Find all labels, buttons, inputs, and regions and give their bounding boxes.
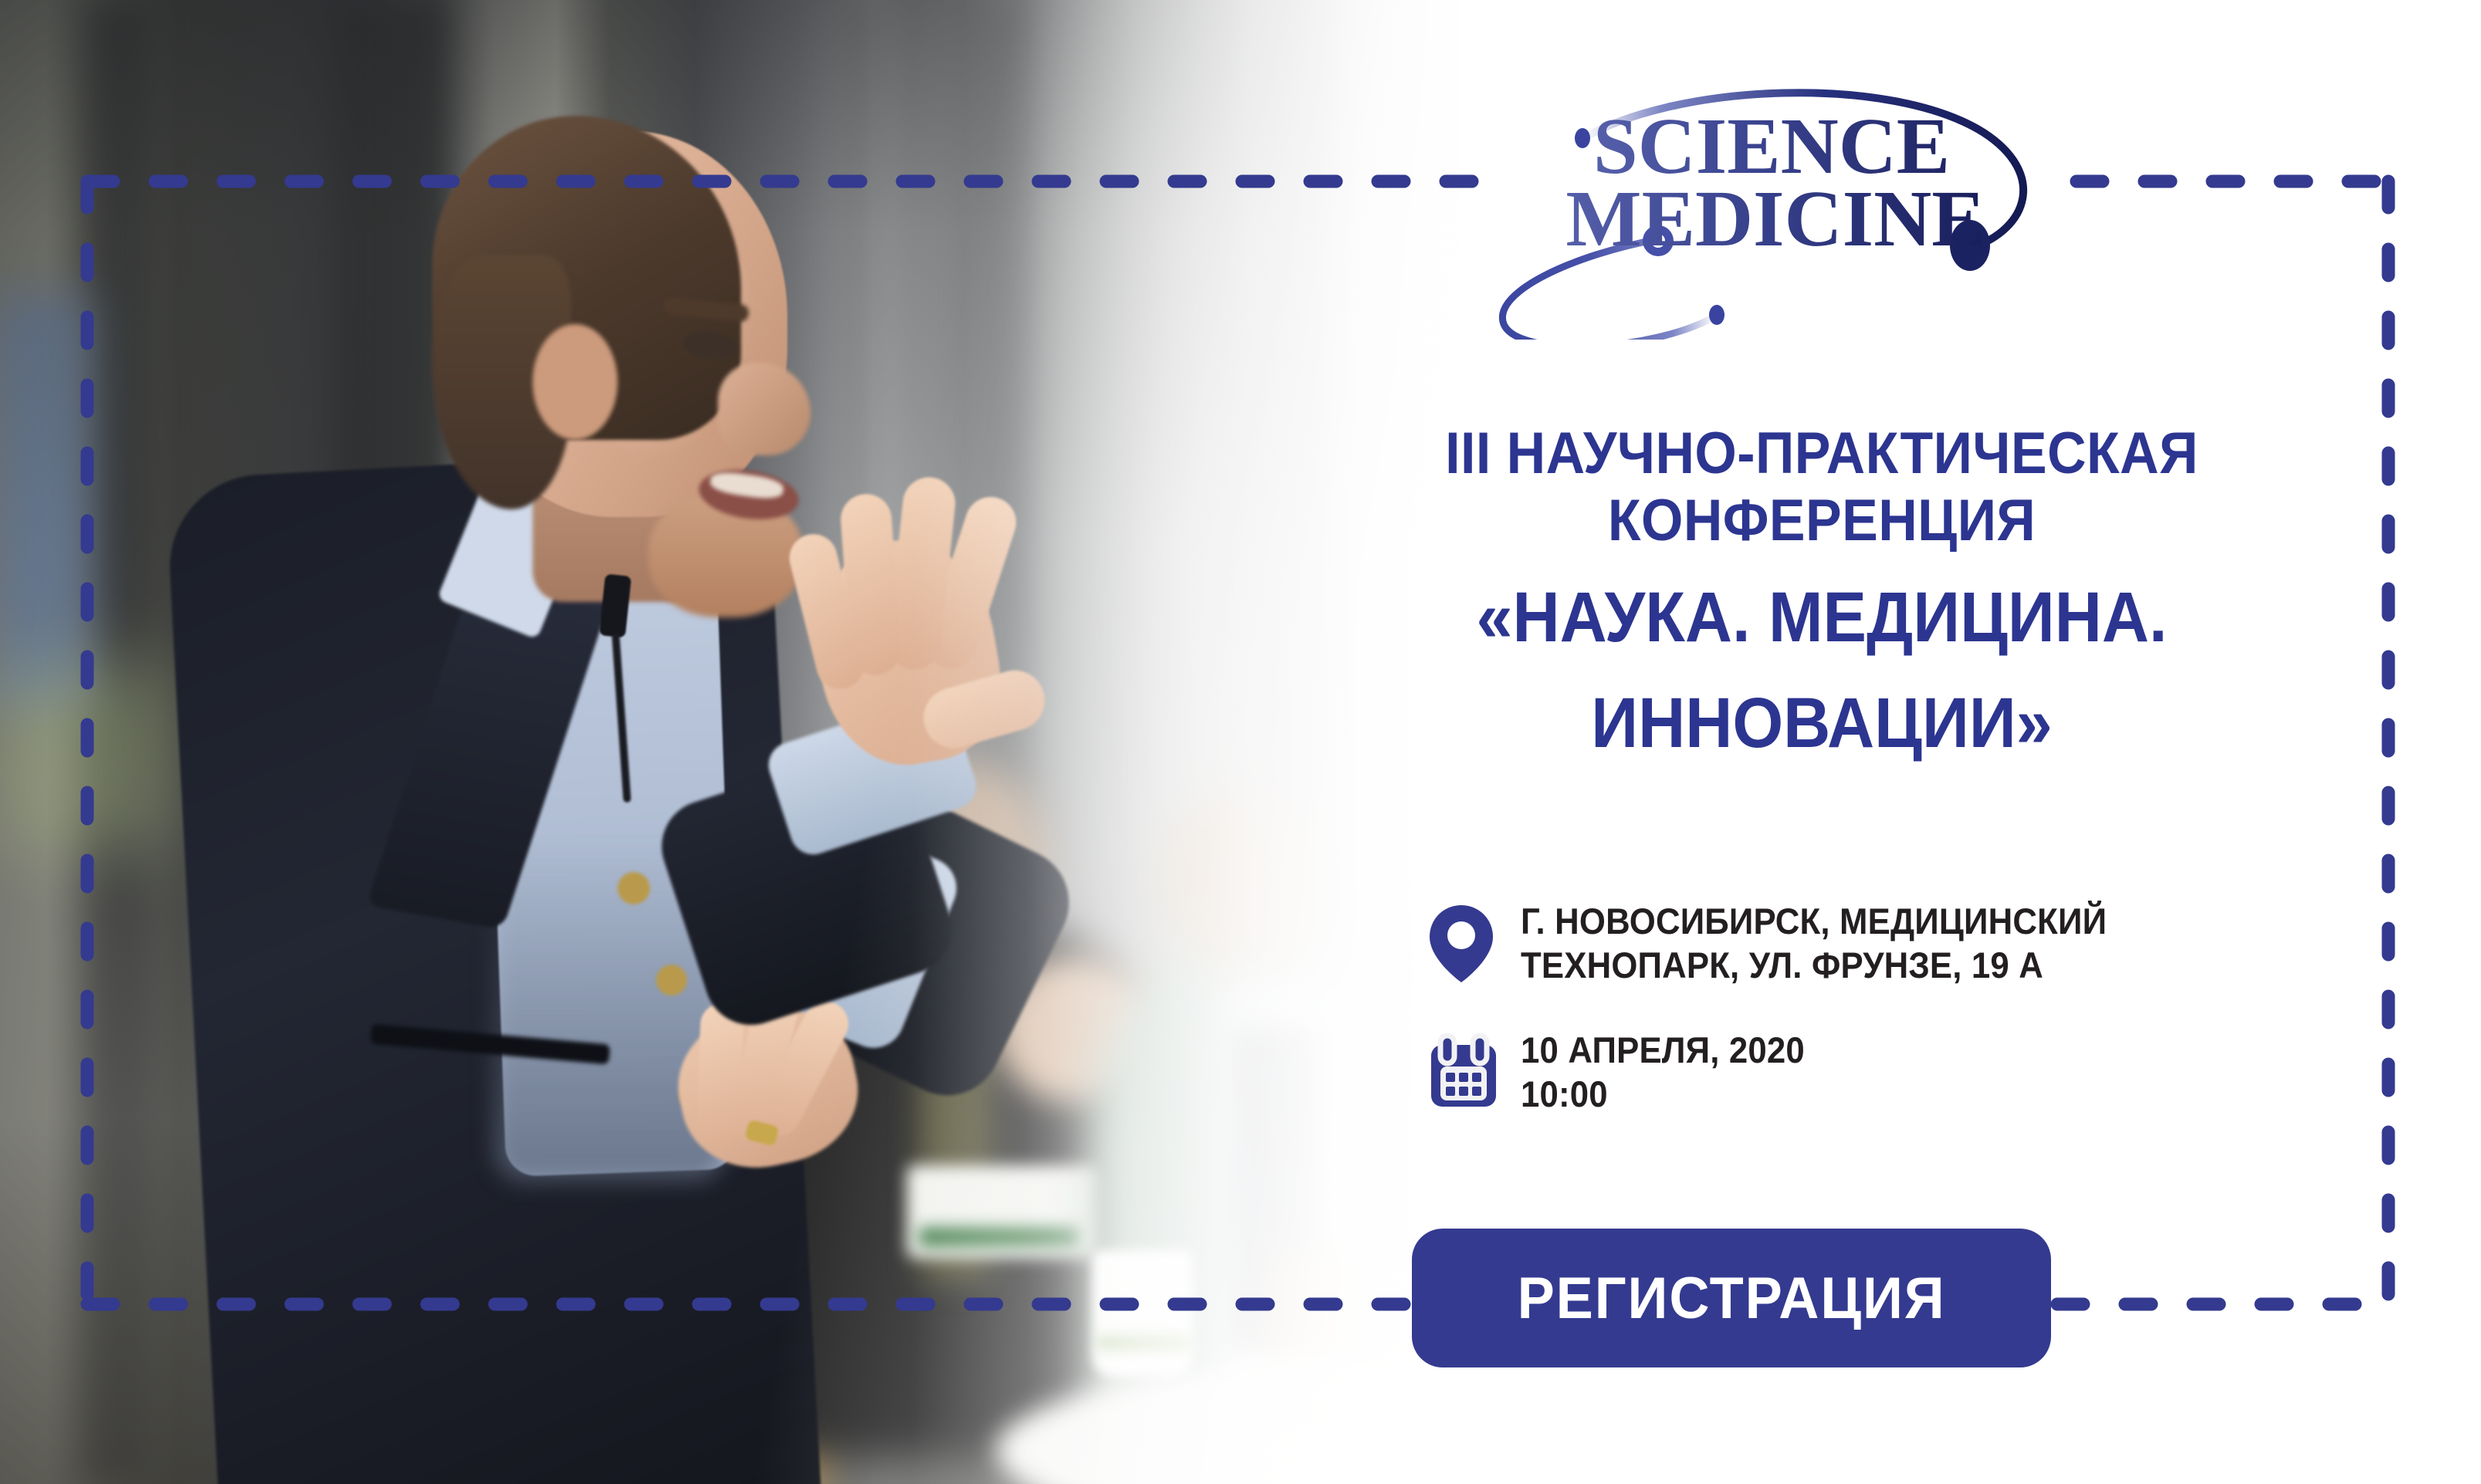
event-details: Г. НОВОСИБИРСК, МЕДИЦИНСКИЙ ТЕХНОПАРК, У… bbox=[1428, 899, 2354, 1157]
conference-announcement-banner: SCIENCE MEDICINE III НАУЧНО-ПРАКТИЧЕСКАЯ… bbox=[0, 0, 2481, 1484]
content-column: III НАУЧНО-ПРАКТИЧЕСКАЯ КОНФЕРЕНЦИЯ «НАУ… bbox=[1274, 0, 2481, 1484]
calendar-icon bbox=[1428, 1028, 1521, 1114]
headline-line-1: III НАУЧНО-ПРАКТИЧЕСКАЯ bbox=[1318, 421, 2326, 488]
registration-button-label: РЕГИСТРАЦИЯ bbox=[1518, 1265, 1946, 1332]
date-text: 10 АПРЕЛЯ, 2020 10:00 bbox=[1521, 1028, 1805, 1117]
date-row: 10 АПРЕЛЯ, 2020 10:00 bbox=[1428, 1028, 2354, 1117]
location-row: Г. НОВОСИБИРСК, МЕДИЦИНСКИЙ ТЕХНОПАРК, У… bbox=[1428, 899, 2354, 988]
headline-line-2: КОНФЕРЕНЦИЯ bbox=[1318, 488, 2326, 555]
event-title-line-1: «НАУКА. МЕДИЦИНА. bbox=[1318, 576, 2326, 660]
event-headline: III НАУЧНО-ПРАКТИЧЕСКАЯ КОНФЕРЕНЦИЯ «НАУ… bbox=[1318, 421, 2326, 765]
registration-button[interactable]: РЕГИСТРАЦИЯ bbox=[1412, 1229, 2051, 1367]
location-text: Г. НОВОСИБИРСК, МЕДИЦИНСКИЙ ТЕХНОПАРК, У… bbox=[1521, 899, 2107, 988]
event-title-line-2: ИННОВАЦИИ» bbox=[1318, 681, 2326, 766]
map-pin-icon bbox=[1428, 899, 1521, 988]
